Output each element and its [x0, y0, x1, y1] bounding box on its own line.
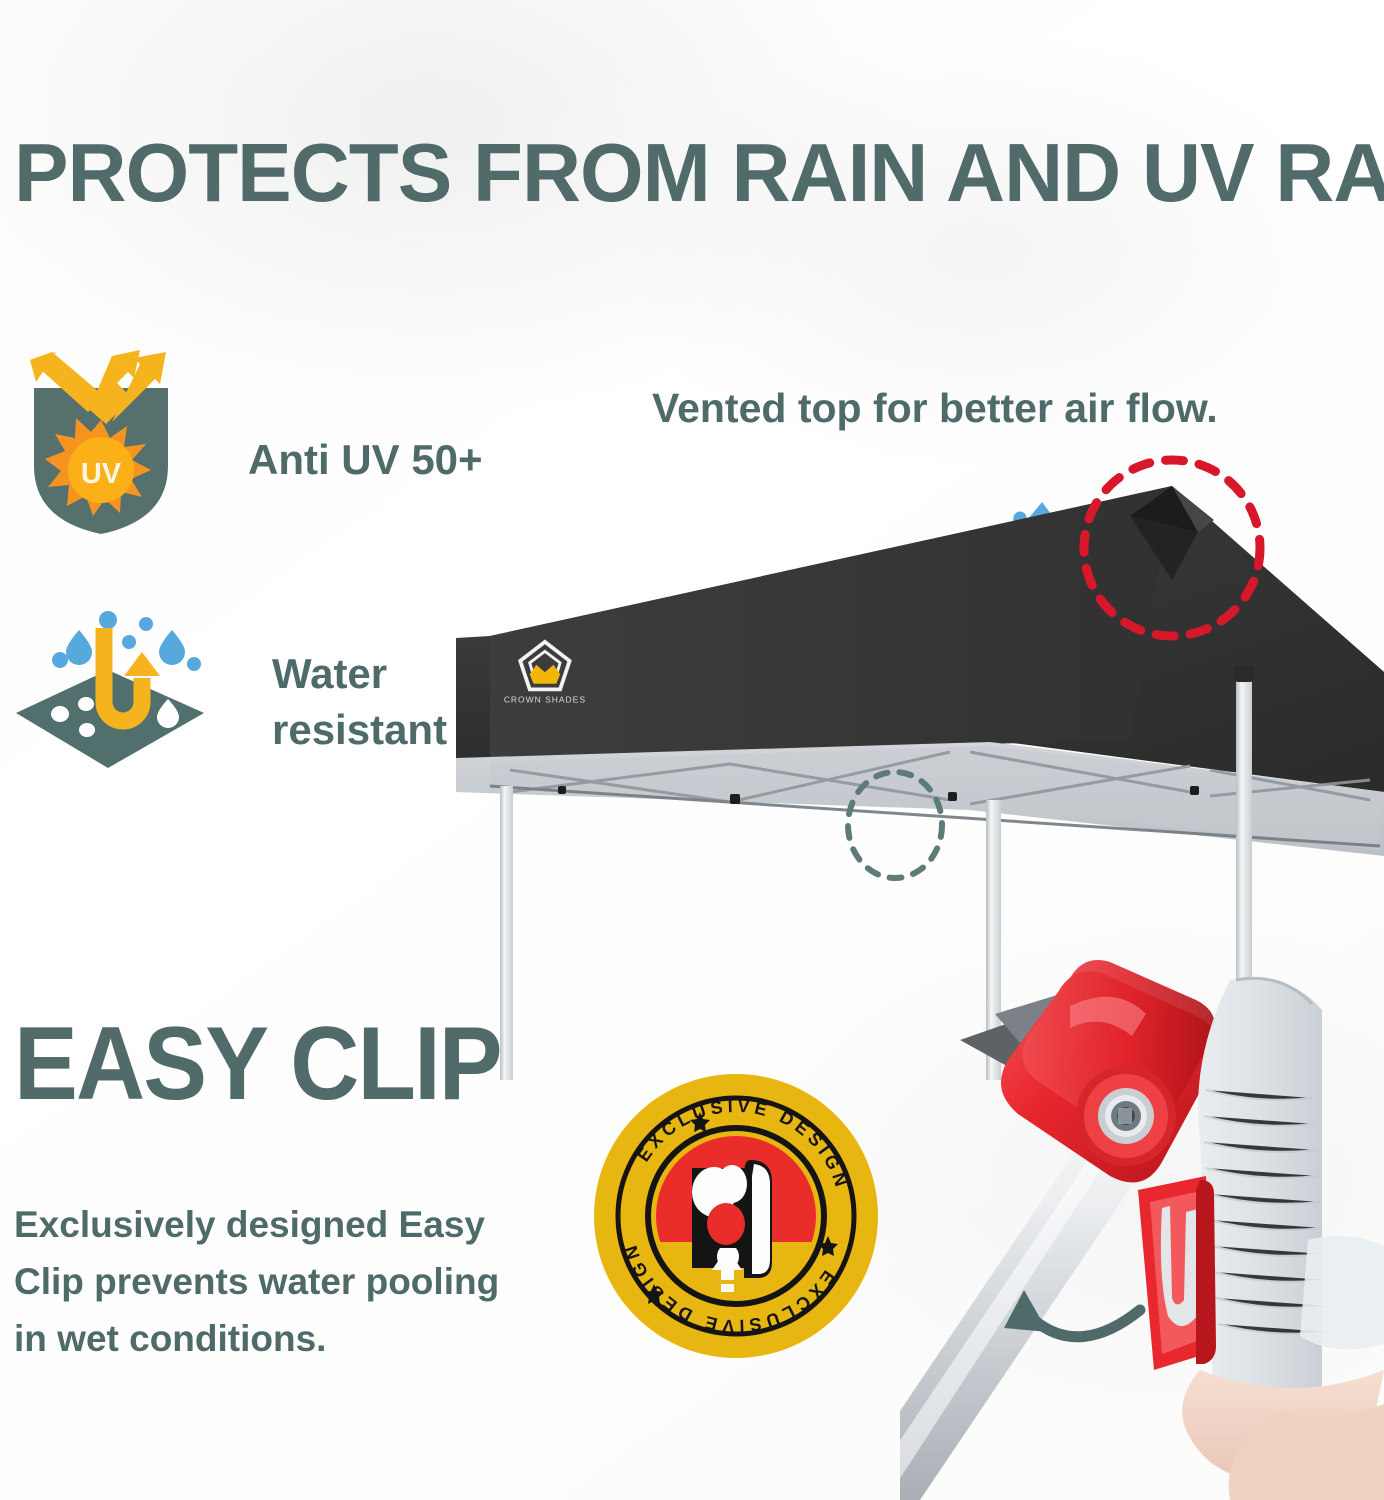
page-title: PROTECTS FROM RAIN AND UV RAYS: [14, 128, 1384, 218]
easy-clip-description-line1: Exclusively designed Easy: [14, 1196, 544, 1253]
exclusive-design-badge: EXCLUSIVE DESIGN EXCLUSIVE DESIGN: [592, 1072, 880, 1360]
red-clip-hardware: [1001, 960, 1219, 1182]
section-title-easy-clip: EASY CLIP: [14, 1008, 501, 1120]
easy-clip-hardware-photo: [900, 940, 1384, 1500]
easy-clip-description: Exclusively designed Easy Clip prevents …: [14, 1196, 544, 1367]
water-repellent-surface-icon: [8, 608, 208, 773]
feature-label-vented-top: Vented top for better air flow.: [652, 382, 1218, 434]
red-u-clip: [1138, 1176, 1216, 1370]
canopy-strap: [1198, 978, 1328, 1428]
easy-clip-description-line3: in wet conditions.: [14, 1310, 544, 1367]
svg-text:CROWN SHADES: CROWN SHADES: [504, 695, 586, 705]
clip-direction-arrow: [1004, 1290, 1140, 1337]
easy-clip-description-line2: Clip prevents water pooling: [14, 1253, 544, 1310]
marketing-infographic: PROTECTS FROM RAIN AND UV RAYS: [0, 0, 1384, 1500]
uv-shield-icon: UV: [16, 338, 186, 538]
uv-icon-text: UV: [81, 458, 122, 490]
